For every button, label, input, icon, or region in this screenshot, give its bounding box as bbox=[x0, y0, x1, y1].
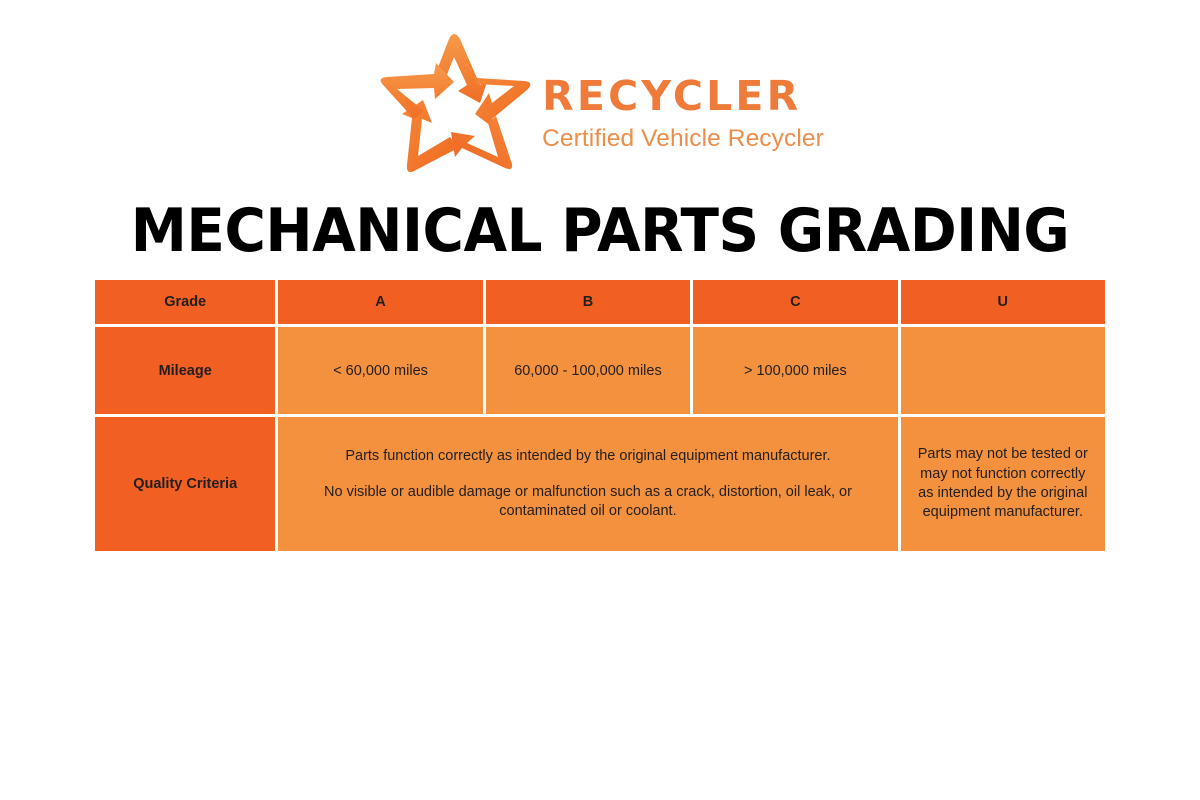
recycle-star-icon bbox=[376, 31, 536, 181]
row-label-quality-criteria: Quality Criteria bbox=[95, 414, 275, 551]
table-row-mileage: Mileage < 60,000 miles 60,000 - 100,000 … bbox=[95, 324, 1105, 414]
mileage-cell-a: < 60,000 miles bbox=[275, 324, 482, 414]
quality-abc-paragraph-2: No visible or audible damage or malfunct… bbox=[278, 483, 897, 522]
page-title: MECHANICAL PARTS GRADING bbox=[36, 196, 1164, 266]
logo-wordmark: RECYCLER bbox=[542, 75, 824, 118]
quality-abc-paragraph-1: Parts function correctly as intended by … bbox=[278, 447, 897, 466]
header-cell-grade: Grade bbox=[95, 280, 275, 324]
logo-inner: RECYCLER Certified Vehicle Recycler bbox=[376, 31, 824, 181]
mileage-cell-u bbox=[898, 324, 1105, 414]
mileage-cell-b: 60,000 - 100,000 miles bbox=[483, 324, 690, 414]
quality-u-line-1: Parts may not be tested or bbox=[901, 445, 1105, 464]
header-cell-u: U bbox=[898, 280, 1105, 324]
quality-u-line-3: as intended by the original bbox=[901, 484, 1105, 503]
quality-cell-abc: Parts function correctly as intended by … bbox=[275, 414, 897, 551]
table-header-row: Grade A B C U bbox=[95, 280, 1105, 324]
mileage-cell-c: > 100,000 miles bbox=[690, 324, 897, 414]
logo-tagline: Certified Vehicle Recycler bbox=[542, 124, 824, 153]
quality-u-line-4: equipment manufacturer. bbox=[901, 503, 1105, 522]
table-row-quality-criteria: Quality Criteria Parts function correctl… bbox=[95, 414, 1105, 551]
header-cell-c: C bbox=[690, 280, 897, 324]
quality-u-line-2: may not function correctly bbox=[901, 465, 1105, 484]
header-cell-a: A bbox=[275, 280, 482, 324]
brand-logo: RECYCLER Certified Vehicle Recycler bbox=[0, 28, 1200, 183]
row-label-mileage: Mileage bbox=[95, 324, 275, 414]
mechanical-parts-grading-table: Grade A B C U Mileage < 60,000 miles 60,… bbox=[95, 280, 1105, 551]
header-cell-b: B bbox=[483, 280, 690, 324]
logo-text-block: RECYCLER Certified Vehicle Recycler bbox=[542, 57, 824, 153]
quality-cell-u: Parts may not be tested or may not funct… bbox=[898, 414, 1105, 551]
